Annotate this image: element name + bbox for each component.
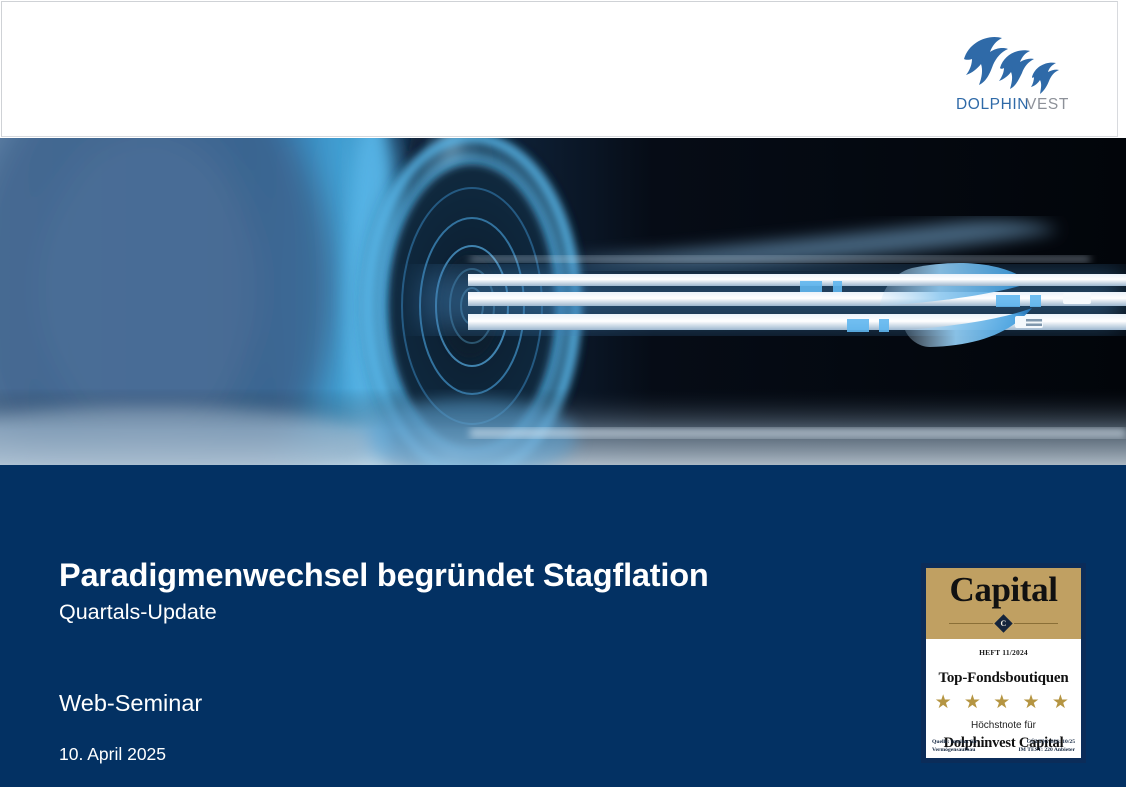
slide-header-band: DOLPHIN VEST — [0, 0, 1126, 138]
three-dolphins-icon — [964, 37, 1059, 94]
badge-validity-line-2: IM TEST: 220 Anbieter — [1018, 746, 1075, 754]
badge-issue-label: HEFT 11/2024 — [932, 648, 1075, 657]
page-title: Paradigmenwechsel begründet Stagflation — [59, 557, 859, 594]
header-right-filler — [1118, 0, 1126, 138]
badge-source: Quelle: Institut für Vermögensaufbau — [932, 738, 977, 754]
presentation-title-slide: DOLPHIN VEST — [0, 0, 1126, 787]
badge-validity: GÜLTIG BIS: 10/25 IM TEST: 220 Anbieter — [1018, 738, 1075, 754]
badge-honor-label: Höchstnote für — [932, 720, 1075, 731]
capital-monogram-icon: C — [994, 614, 1012, 632]
badge-footer: Quelle: Institut für Vermögensaufbau GÜL… — [932, 738, 1075, 754]
header-inner-frame — [1, 1, 1118, 137]
event-meta-block: Web-Seminar 10. April 2025 — [59, 689, 659, 765]
capital-award-badge: Capital C HEFT 11/2024 Top-Fondsboutique… — [921, 563, 1086, 763]
badge-source-line-1: Quelle: Institut für — [932, 738, 977, 746]
badge-masthead: Capital C — [926, 568, 1081, 639]
badge-validity-line-1: GÜLTIG BIS: 10/25 — [1018, 738, 1075, 746]
badge-monogram-label: C — [1001, 620, 1007, 628]
logo-wordmark-secondary: VEST — [1026, 96, 1069, 112]
badge-source-line-2: Vermögensaufbau — [932, 746, 977, 754]
dolphinvest-logo: DOLPHIN VEST — [956, 28, 1080, 112]
badge-rule-right — [1014, 623, 1058, 624]
page-subtitle: Quartals-Update — [59, 600, 859, 626]
badge-star-rating: ★ ★ ★ ★ ★ — [932, 693, 1075, 712]
logo-wordmark-primary: DOLPHIN — [956, 96, 1029, 112]
badge-category-label: Top-Fondsboutiquen — [932, 670, 1075, 687]
badge-inner: Capital C HEFT 11/2024 Top-Fondsboutique… — [926, 568, 1081, 758]
event-type-label: Web-Seminar — [59, 689, 659, 717]
archery-target-arrows-image — [0, 138, 1126, 465]
badge-divider: C — [926, 617, 1081, 630]
badge-body: HEFT 11/2024 Top-Fondsboutiquen ★ ★ ★ ★ … — [926, 639, 1081, 758]
event-date-label: 10. April 2025 — [59, 744, 659, 765]
badge-rule-left — [949, 623, 993, 624]
title-block: Paradigmenwechsel begründet Stagflation … — [59, 557, 859, 626]
badge-brand-label: Capital — [949, 568, 1057, 611]
logo-wordmark: DOLPHIN VEST — [956, 96, 1069, 112]
